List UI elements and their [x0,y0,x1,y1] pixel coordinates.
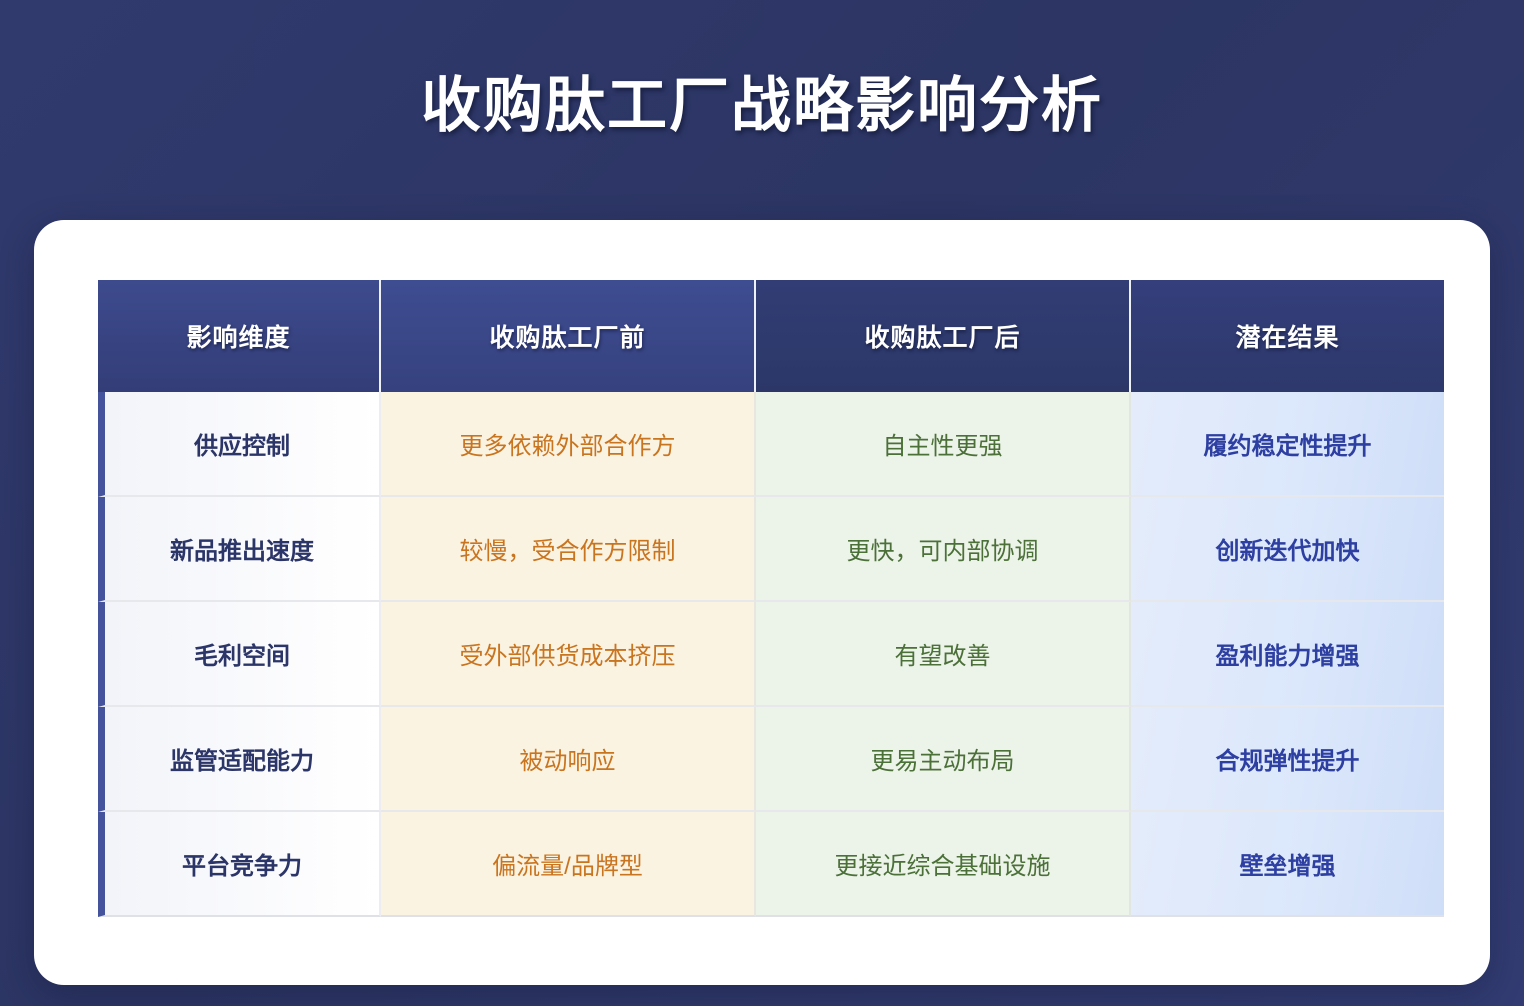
cell-result: 履约稳定性提升 [1131,392,1444,497]
cell-dimension: 新品推出速度 [98,497,381,602]
cell-after: 自主性更强 [756,392,1131,497]
table-body: 供应控制 更多依赖外部合作方 自主性更强 履约稳定性提升 新品推出速度 较慢，受… [98,392,1444,917]
slide-root: 收购肽工厂战略影响分析 影响维度 收购肽工厂前 收购肽工厂后 潜在结果 供应控制… [0,0,1524,1006]
table-header-row: 影响维度 收购肽工厂前 收购肽工厂后 潜在结果 [98,280,1444,392]
column-header-before: 收购肽工厂前 [381,280,756,392]
cell-before: 受外部供货成本挤压 [381,602,756,707]
title-area: 收购肽工厂战略影响分析 [0,0,1524,200]
cell-result: 创新迭代加快 [1131,497,1444,602]
cell-result: 盈利能力增强 [1131,602,1444,707]
table-header: 影响维度 收购肽工厂前 收购肽工厂后 潜在结果 [98,280,1444,392]
cell-before: 被动响应 [381,707,756,812]
cell-after: 更接近综合基础设施 [756,812,1131,917]
column-header-after: 收购肽工厂后 [756,280,1131,392]
cell-dimension: 毛利空间 [98,602,381,707]
cell-after: 更易主动布局 [756,707,1131,812]
table-row: 毛利空间 受外部供货成本挤压 有望改善 盈利能力增强 [98,602,1444,707]
cell-before: 较慢，受合作方限制 [381,497,756,602]
table-row: 供应控制 更多依赖外部合作方 自主性更强 履约稳定性提升 [98,392,1444,497]
cell-result: 壁垒增强 [1131,812,1444,917]
table-card: 影响维度 收购肽工厂前 收购肽工厂后 潜在结果 供应控制 更多依赖外部合作方 自… [34,220,1490,985]
cell-after: 更快，可内部协调 [756,497,1131,602]
cell-after: 有望改善 [756,602,1131,707]
column-header-dimension: 影响维度 [98,280,381,392]
cell-result: 合规弹性提升 [1131,707,1444,812]
table-row: 新品推出速度 较慢，受合作方限制 更快，可内部协调 创新迭代加快 [98,497,1444,602]
cell-dimension: 监管适配能力 [98,707,381,812]
cell-before: 更多依赖外部合作方 [381,392,756,497]
cell-dimension: 平台竞争力 [98,812,381,917]
table-row: 监管适配能力 被动响应 更易主动布局 合规弹性提升 [98,707,1444,812]
page-title: 收购肽工厂战略影响分析 [421,57,1103,144]
cell-before: 偏流量/品牌型 [381,812,756,917]
table-row: 平台竞争力 偏流量/品牌型 更接近综合基础设施 壁垒增强 [98,812,1444,917]
cell-dimension: 供应控制 [98,392,381,497]
impact-analysis-table: 影响维度 收购肽工厂前 收购肽工厂后 潜在结果 供应控制 更多依赖外部合作方 自… [98,280,1444,917]
column-header-result: 潜在结果 [1131,280,1444,392]
